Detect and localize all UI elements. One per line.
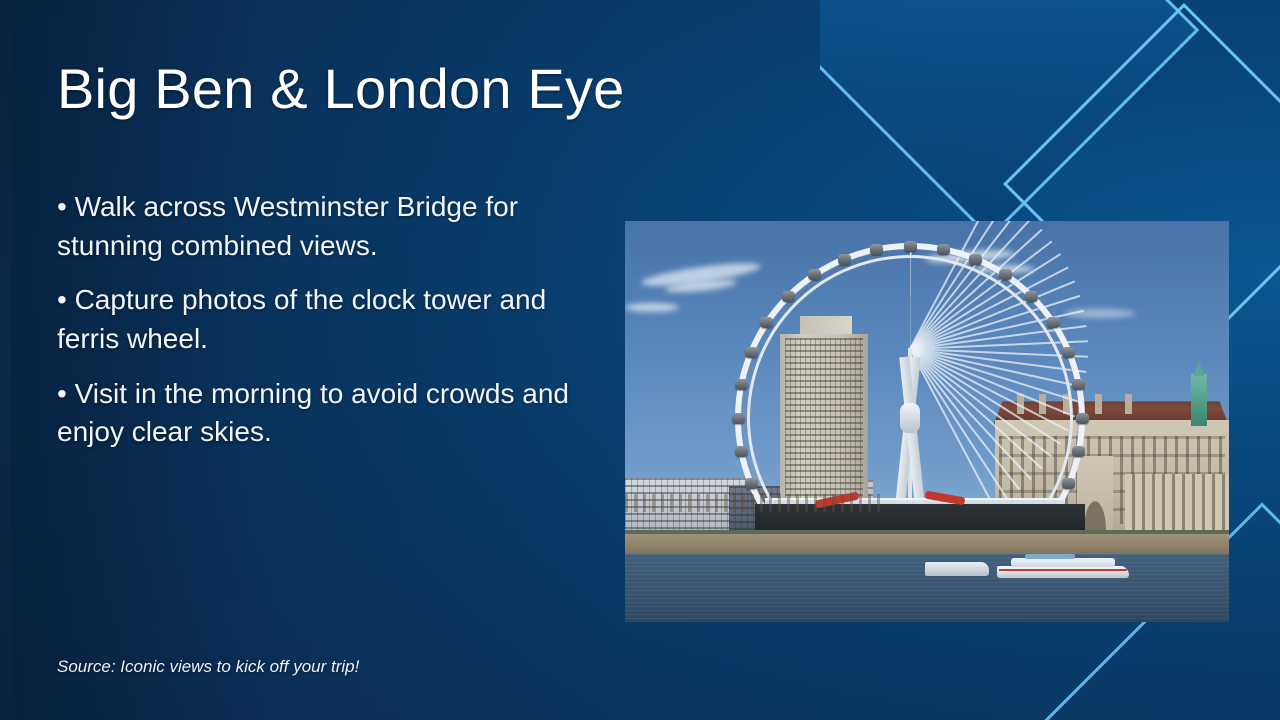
wheel-capsule (732, 413, 745, 424)
wheel-capsule (1072, 446, 1085, 457)
wheel-capsule (745, 478, 758, 489)
copper-tower (1191, 374, 1207, 426)
cloud (625, 303, 679, 312)
wheel-capsule (760, 317, 773, 328)
moored-boat (925, 562, 989, 576)
slide-title: Big Ben & London Eye (57, 57, 697, 121)
wheel-capsule (838, 254, 851, 265)
source-note: Source: Iconic views to kick off your tr… (57, 657, 359, 677)
wheel-capsule (969, 254, 982, 265)
wheel-capsule (1076, 413, 1089, 424)
wheel-capsule (1062, 347, 1075, 358)
wheel-capsule (745, 347, 758, 358)
riverside-trees (625, 494, 885, 512)
left-edge-border (0, 0, 11, 720)
wheel-capsule (1062, 478, 1075, 489)
wheel-hub (900, 403, 920, 433)
wheel-capsule (808, 269, 821, 280)
wheel-capsule (999, 269, 1012, 280)
wheel-capsule (870, 244, 883, 255)
london-eye-photo (625, 221, 1229, 622)
wheel-capsule (782, 291, 795, 302)
wheel-capsule (735, 446, 748, 457)
wheel-capsule (1025, 291, 1038, 302)
bullet-list: • Walk across Westminster Bridge for stu… (57, 188, 602, 452)
bullet-item: • Visit in the morning to avoid crowds a… (57, 375, 602, 452)
county-hall-colonnade (1125, 474, 1229, 530)
wheel-capsule (735, 379, 748, 390)
tour-boat (997, 554, 1129, 578)
wheel-capsule (1047, 317, 1060, 328)
bullet-item: • Capture photos of the clock tower and … (57, 281, 602, 358)
wheel-capsule (904, 241, 917, 252)
bullet-item: • Walk across Westminster Bridge for stu… (57, 188, 602, 265)
presentation-slide: Big Ben & London Eye • Walk across Westm… (0, 0, 1280, 720)
wheel-capsule (1072, 379, 1085, 390)
wheel-capsule (937, 244, 950, 255)
